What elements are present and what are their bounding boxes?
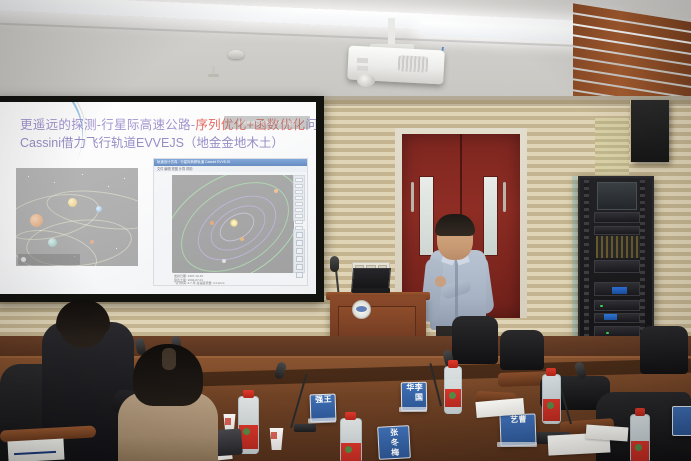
projection-screen: 更遥远的探测-行星际高速公路-序列优化+函数优化问题 Cassini借力飞行轨道… — [0, 102, 316, 294]
bottle-cap — [448, 360, 458, 368]
planet-mars-icon — [90, 240, 94, 244]
water-bottle[interactable] — [542, 374, 561, 424]
planet-marker-icon — [240, 237, 244, 241]
planet-neptune-icon — [48, 238, 57, 247]
meeting-document[interactable] — [586, 425, 629, 442]
bottle-cap — [345, 412, 356, 420]
placard-stand — [308, 418, 336, 424]
slide-title-lead: 更遥远的探测-行星际高速公路- — [20, 118, 195, 132]
water-bottle[interactable] — [340, 418, 362, 461]
orbit-trajectory-plot — [172, 175, 294, 273]
bottle-cap — [243, 390, 254, 398]
slide-watermark-text: 本讲座内容仅供学术交流使用 — [224, 116, 310, 129]
rack-display — [604, 314, 617, 320]
rack-unit — [594, 212, 640, 223]
podium-emblem-icon — [352, 300, 371, 319]
caption-bullet-icon — [21, 257, 26, 262]
slide-title-line-2: Cassini借力飞行轨道EVVEJS（地金金地木土） — [20, 132, 310, 151]
orbit-caption-line: 飞行时间: 6.7 年 总速度增量: 2.0 km/s — [174, 282, 294, 286]
slide-watermark: 本讲座内容仅供学术交流使用 — [224, 116, 310, 129]
orbit-display-options-panel[interactable] — [293, 229, 305, 273]
orbit-window-menubar: 文件 编辑 视图 计算 帮助 — [154, 166, 307, 172]
rack-monitor — [597, 182, 637, 210]
bottle-label — [631, 441, 649, 461]
bottle-cap — [546, 368, 556, 376]
spacecraft-marker-icon — [222, 259, 226, 263]
office-chair[interactable] — [640, 326, 688, 374]
orbit-window-title: 轨道设计仿真 - 行星际转移轨道 Cassini EVVEJS — [154, 159, 307, 166]
rack-status-led — [600, 305, 603, 307]
projector-vent — [398, 55, 429, 73]
presenter-hand — [435, 276, 446, 287]
slide-image-caption — [18, 254, 80, 265]
bottle-label — [445, 389, 461, 407]
rack-display — [612, 287, 627, 294]
planet-marker-icon — [210, 221, 214, 225]
bottle-label — [543, 399, 560, 421]
water-bottle[interactable] — [630, 414, 650, 461]
planet-saturn-icon — [30, 214, 43, 227]
name-placard-text: 曹 艺 — [509, 415, 527, 446]
office-chair[interactable] — [500, 330, 544, 370]
door-glass-panel — [483, 176, 498, 256]
microphone-base — [294, 424, 316, 432]
door-handle[interactable] — [411, 182, 414, 212]
orbit-window-menu-items: 文件 编辑 视图 计算 帮助 — [154, 166, 307, 172]
door-glass-panel — [419, 176, 434, 256]
bottle-label — [341, 443, 361, 461]
placard-stand — [399, 407, 427, 412]
podium-microphone[interactable] — [330, 256, 339, 272]
notebook[interactable] — [7, 439, 64, 461]
planet-jupiter-icon — [68, 198, 77, 207]
projection-screen-frame: 更遥远的探测-行星际高速公路-序列优化+函数优化问题 Cassini借力飞行轨道… — [0, 96, 324, 302]
orbit-window-caption: 发射日期: 1997-10-15 到达土星: 2004-07-01 飞行时间: … — [174, 275, 294, 286]
sun-marker-icon — [230, 219, 238, 227]
wall-speaker — [631, 100, 669, 162]
rack-unit — [594, 226, 640, 235]
slide-image-orbit-software: 轨道设计仿真 - 行星际转移轨道 Cassini EVVEJS 文件 编辑 视图… — [153, 158, 308, 286]
rack-status-led — [606, 332, 609, 334]
planet-marker-icon — [274, 189, 278, 193]
orbit-window-titlebar: 轨道设计仿真 - 行星际转移轨道 Cassini EVVEJS — [154, 159, 307, 166]
sprinkler-head-icon — [208, 74, 219, 77]
bottle-cap — [635, 408, 645, 416]
name-placard: 张冬梅 — [377, 425, 411, 460]
presenter-hair — [435, 214, 475, 236]
planet-earth-icon — [96, 206, 102, 212]
name-placard-text: 张冬梅 — [389, 427, 399, 457]
projector-foot — [357, 66, 368, 72]
smoke-detector-icon — [228, 50, 244, 59]
presenter-shirt-placket — [455, 258, 458, 320]
presenter-laptop-base[interactable] — [352, 288, 390, 293]
orbit-parameter-panel[interactable] — [293, 175, 305, 221]
rack-unit — [594, 260, 640, 273]
projector-foot — [357, 58, 368, 64]
slide-image-interplanetary-highway — [16, 168, 138, 266]
attendee-2-hair-part — [162, 348, 176, 370]
door-handle[interactable] — [503, 182, 506, 212]
placard-stand — [497, 442, 537, 447]
lecture-room-photo: 更遥远的探测-行星际高速公路-序列优化+函数优化问题 Cassini借力飞行轨道… — [0, 0, 691, 461]
name-placard — [672, 406, 691, 436]
water-bottle[interactable] — [444, 366, 462, 414]
rack-unit — [594, 313, 640, 323]
rack-cable-bundle — [596, 236, 640, 258]
office-chair[interactable] — [452, 316, 498, 364]
